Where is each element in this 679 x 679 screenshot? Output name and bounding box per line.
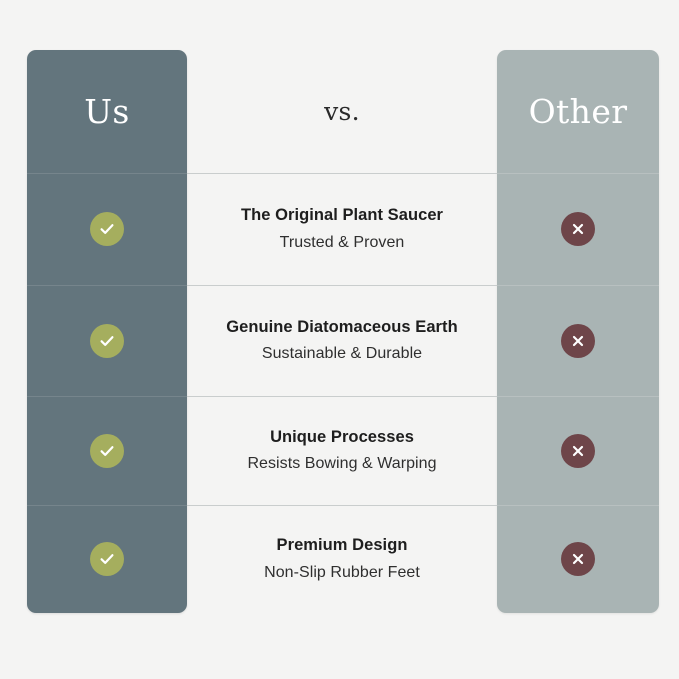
check-circle-icon bbox=[90, 434, 124, 468]
header-cell-vs: vs. bbox=[187, 50, 497, 173]
feature-title: The Original Plant Saucer bbox=[241, 205, 443, 226]
vs-heading: vs. bbox=[324, 99, 360, 124]
cross-circle-icon bbox=[561, 542, 595, 576]
feature-title: Genuine Diatomaceous Earth bbox=[226, 317, 457, 338]
table-row: Unique Processes Resists Bowing & Warpin… bbox=[187, 396, 497, 505]
feature-title: Premium Design bbox=[277, 535, 408, 556]
check-circle-icon bbox=[90, 542, 124, 576]
feature-title: Unique Processes bbox=[270, 427, 414, 448]
table-row bbox=[497, 173, 659, 285]
feature-subtitle: Non-Slip Rubber Feet bbox=[264, 563, 420, 583]
check-circle-icon bbox=[90, 324, 124, 358]
table-row bbox=[27, 285, 187, 396]
table-row: The Original Plant Saucer Trusted & Prov… bbox=[187, 173, 497, 285]
feature-subtitle: Resists Bowing & Warping bbox=[247, 454, 436, 474]
cross-circle-icon bbox=[561, 324, 595, 358]
header-cell-us: Us bbox=[27, 50, 187, 173]
table-row bbox=[497, 505, 659, 613]
other-column-heading: Other bbox=[529, 95, 628, 128]
table-row bbox=[27, 173, 187, 285]
feature-subtitle: Trusted & Proven bbox=[280, 233, 405, 253]
comparison-grid: Us vs. Other The Original Plant Saucer T… bbox=[27, 50, 659, 613]
table-row bbox=[27, 396, 187, 505]
header-cell-other: Other bbox=[497, 50, 659, 173]
table-row bbox=[497, 396, 659, 505]
us-column-heading: Us bbox=[84, 95, 130, 128]
table-row: Genuine Diatomaceous Earth Sustainable &… bbox=[187, 285, 497, 396]
table-row: Premium Design Non-Slip Rubber Feet bbox=[187, 505, 497, 613]
cross-circle-icon bbox=[561, 212, 595, 246]
check-circle-icon bbox=[90, 212, 124, 246]
table-row bbox=[497, 285, 659, 396]
feature-subtitle: Sustainable & Durable bbox=[262, 344, 422, 364]
cross-circle-icon bbox=[561, 434, 595, 468]
comparison-table: Us vs. Other The Original Plant Saucer T… bbox=[0, 0, 679, 679]
table-row bbox=[27, 505, 187, 613]
